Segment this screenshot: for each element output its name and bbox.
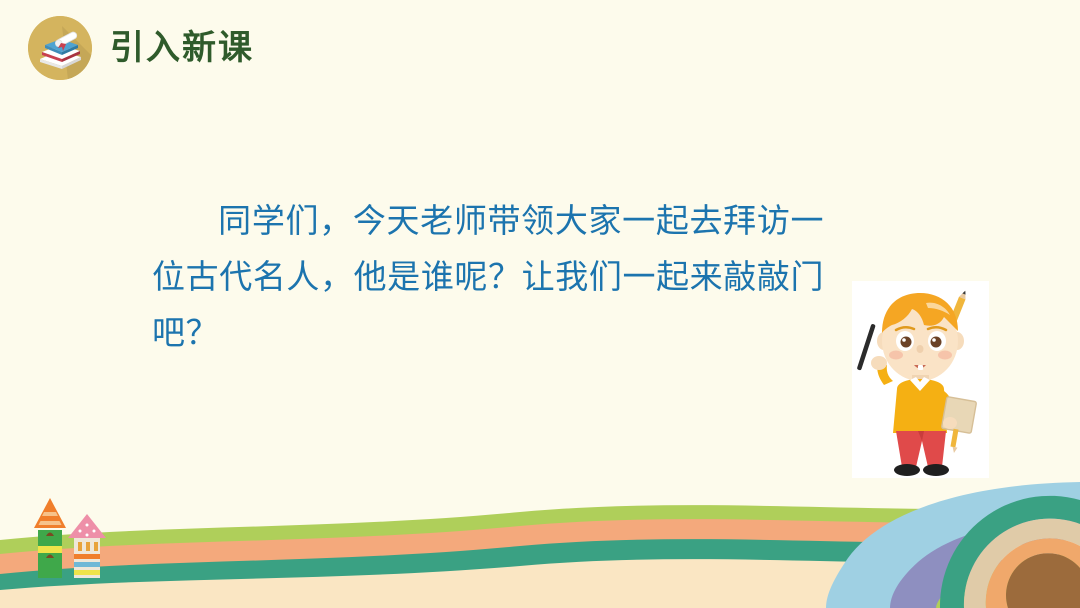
paragraph-text: 同学们，今天老师带领大家一起去拜访一位古代名人，他是谁呢？让我们一起来敲敲门吧？	[152, 202, 824, 351]
sand-foreground	[0, 559, 1080, 608]
slide-header: 引入新课	[28, 16, 254, 80]
hill-peach	[0, 519, 1080, 608]
rainbow-arcs	[826, 482, 1080, 608]
bottom-decoration	[0, 478, 1080, 608]
cartoon-houses	[24, 494, 120, 580]
page-title: 引入新课	[110, 31, 254, 65]
hill-teal	[0, 539, 1080, 608]
lesson-intro-paragraph: 同学们，今天老师带领大家一起去拜访一位古代名人，他是谁呢？让我们一起来敲敲门吧？	[152, 193, 824, 361]
hill-green	[0, 505, 1080, 608]
slide-canvas: 引入新课 同学们，今天老师带领大家一起去拜访一位古代名人，他是谁呢？让我们一起来…	[0, 0, 1080, 608]
cartoon-boy-with-pointer	[852, 281, 989, 487]
house-right	[68, 514, 106, 578]
books-diploma-icon	[28, 16, 92, 80]
house-left	[34, 498, 66, 578]
